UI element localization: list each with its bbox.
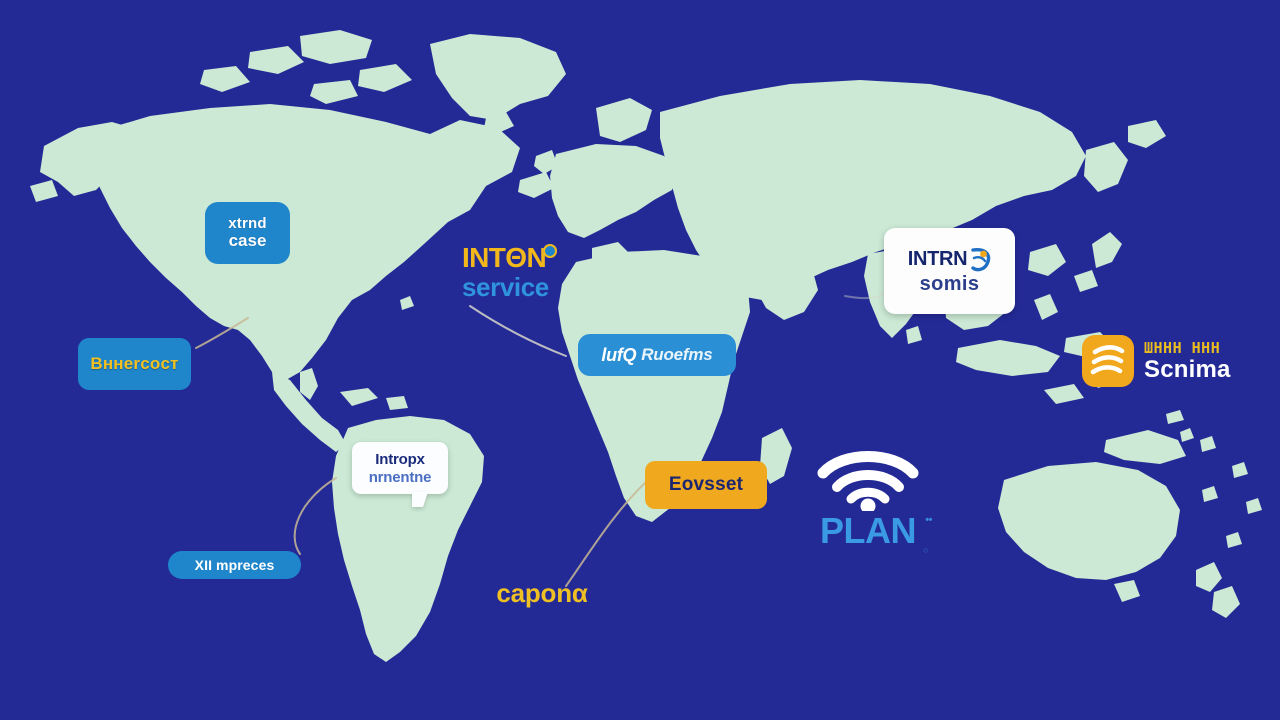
capona-label[interactable]: caponα bbox=[483, 577, 601, 609]
eovsset-label: Eovsset bbox=[669, 475, 743, 494]
scnima-line2: Scnima bbox=[1144, 358, 1231, 382]
intropx-line2: nrnentne bbox=[369, 469, 432, 486]
world-map-scene: xtrnd case Bннеrcocт INTΘN service lufQ … bbox=[0, 0, 1280, 720]
intrn-somis-line2: somis bbox=[920, 273, 980, 296]
info-ruoefms-line2: Ruoefms bbox=[641, 346, 712, 363]
xii-mpreces-label: XII mpreces bbox=[195, 558, 275, 572]
scnima-text-column: ШННН ННН Scnima bbox=[1144, 341, 1231, 382]
intrn-somis-line1: INTRN bbox=[908, 248, 968, 271]
scnima-line1: ШННН ННН bbox=[1144, 341, 1220, 356]
globe-icon bbox=[543, 244, 557, 258]
bunercoct-badge[interactable]: Bннеrcocт bbox=[78, 338, 191, 390]
bunercoct-label: Bннеrcocт bbox=[90, 355, 178, 372]
eovsset-badge[interactable]: Eovsset bbox=[645, 461, 767, 509]
intropx-line1: Intropx bbox=[375, 451, 424, 468]
signal-waves-icon bbox=[1082, 335, 1134, 387]
info-ruoefms-badge[interactable]: lufQ Ruoefms bbox=[578, 334, 736, 376]
plan-spark-icon: •• bbox=[925, 515, 932, 526]
plan-spark2-icon: ○ bbox=[923, 546, 928, 555]
inton-service-logo[interactable]: INTΘN service bbox=[462, 238, 570, 306]
stred-case-line1: xtrnd bbox=[228, 216, 267, 231]
info-ruoefms-line1: lufQ bbox=[601, 346, 636, 364]
swoosh-globe-icon bbox=[969, 246, 991, 272]
speech-bubble-tail bbox=[412, 492, 428, 507]
intrn-somis-card[interactable]: INTRN somis bbox=[884, 228, 1015, 314]
xii-mpreces-pill[interactable]: XII mpreces bbox=[168, 551, 301, 579]
scnima-logo[interactable]: ШННН ННН Scnima bbox=[1082, 333, 1232, 389]
inton-service-line1: INTΘN bbox=[462, 242, 546, 274]
stred-case-badge[interactable]: xtrnd case bbox=[205, 202, 290, 264]
plan-text: PLAN bbox=[820, 510, 916, 551]
wifi-icon bbox=[813, 449, 923, 511]
intrn-somis-top-row: INTRN bbox=[908, 246, 992, 272]
intropx-speech-bubble[interactable]: Intropx nrnentne bbox=[352, 442, 448, 494]
stred-case-line2: case bbox=[229, 232, 267, 249]
plan-wifi-logo[interactable]: PLAN •• ○ bbox=[800, 446, 936, 552]
plan-label: PLAN •• ○ bbox=[820, 513, 916, 549]
inton-service-line2: service bbox=[462, 272, 549, 303]
capona-text: caponα bbox=[496, 578, 587, 609]
